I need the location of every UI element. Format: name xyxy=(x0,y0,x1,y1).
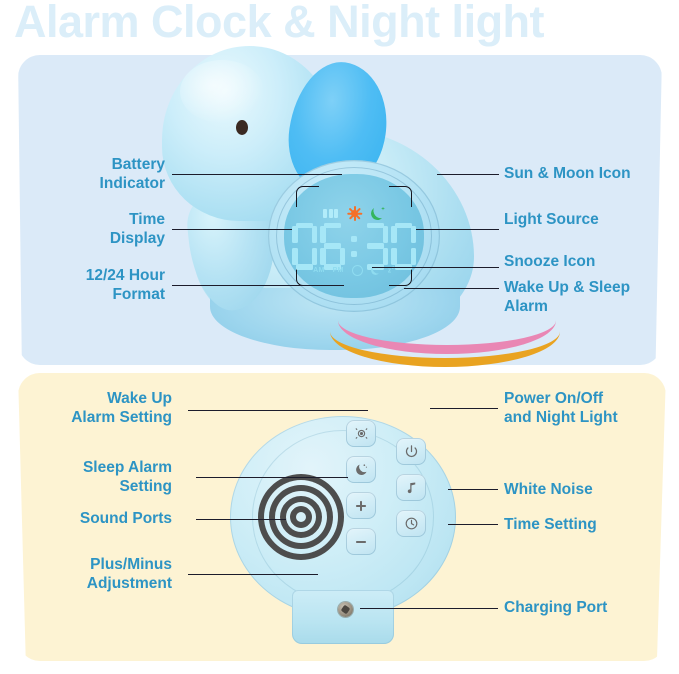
digit-1 xyxy=(320,223,345,270)
leader-power-night-light xyxy=(430,408,498,409)
digit-0 xyxy=(292,223,317,270)
leader-wake-up-alarm-setting xyxy=(188,410,368,411)
leader-battery-indicator xyxy=(172,174,342,175)
label-wake-up-alarm-setting: Wake Up Alarm Setting xyxy=(40,390,172,427)
leader-plus-minus-adjustment xyxy=(188,574,318,575)
label-snooze-icon: Snooze Icon xyxy=(504,253,674,272)
am-indicator: AM xyxy=(313,267,325,274)
label-white-noise: White Noise xyxy=(504,481,679,500)
lcd-indicator-row: AM PM zz xyxy=(268,264,440,276)
battery-icon xyxy=(323,209,338,218)
pm-indicator: PM xyxy=(333,267,344,274)
plus-icon[interactable] xyxy=(346,492,376,519)
label-wake-sleep-alarm: Wake Up & Sleep Alarm xyxy=(504,279,674,316)
label-charging-port: Charging Port xyxy=(504,599,679,618)
leader-snooze-icon xyxy=(372,267,499,268)
leader-light-source xyxy=(416,229,499,230)
label-battery-indicator: Battery Indicator xyxy=(40,156,165,193)
leader-hour-format xyxy=(172,285,344,286)
digit-3 xyxy=(391,223,416,270)
label-sun-moon-icon: Sun & Moon Icon xyxy=(504,165,674,184)
clock-icon[interactable] xyxy=(396,510,426,537)
leader-sound-ports xyxy=(196,519,286,520)
leader-wake-sleep-alarm xyxy=(404,288,499,289)
leader-sleep-alarm-setting xyxy=(196,477,348,478)
infographic-root: Alarm Clock & Night light xyxy=(0,0,679,674)
speaker-grille-icon xyxy=(250,466,346,562)
music-note-icon[interactable] xyxy=(396,474,426,501)
device-stand xyxy=(292,590,394,644)
label-sleep-alarm-setting: Sleep Alarm Setting xyxy=(40,459,172,496)
leader-time-display xyxy=(172,229,292,230)
elephant-eye xyxy=(236,120,248,135)
label-time-setting: Time Setting xyxy=(504,516,679,535)
leader-charging-port xyxy=(360,608,498,609)
clock-back-illustration xyxy=(218,408,468,658)
leader-sun-moon-icon xyxy=(437,174,499,175)
minus-icon[interactable] xyxy=(346,528,376,555)
label-light-source: Light Source xyxy=(504,211,674,230)
label-plus-minus-adjustment: Plus/Minus Adjustment xyxy=(40,556,172,593)
label-power-night-light: Power On/Off and Night Light xyxy=(504,390,679,427)
label-sound-ports: Sound Ports xyxy=(40,510,172,529)
power-icon[interactable] xyxy=(396,438,426,465)
label-time-display: Time Display xyxy=(40,211,165,248)
alarm-indicator-icon xyxy=(352,265,363,276)
clock-front-illustration: AM PM zz xyxy=(150,40,490,350)
lcd-colon xyxy=(348,223,360,270)
leader-white-noise xyxy=(448,489,498,490)
label-hour-format: 12/24 Hour Format xyxy=(30,267,165,304)
charging-port-icon xyxy=(338,602,353,617)
moon-icon[interactable] xyxy=(346,456,376,483)
leader-time-setting xyxy=(448,524,498,525)
digit-2 xyxy=(363,223,388,270)
alarm-bell-icon[interactable] xyxy=(346,420,376,447)
